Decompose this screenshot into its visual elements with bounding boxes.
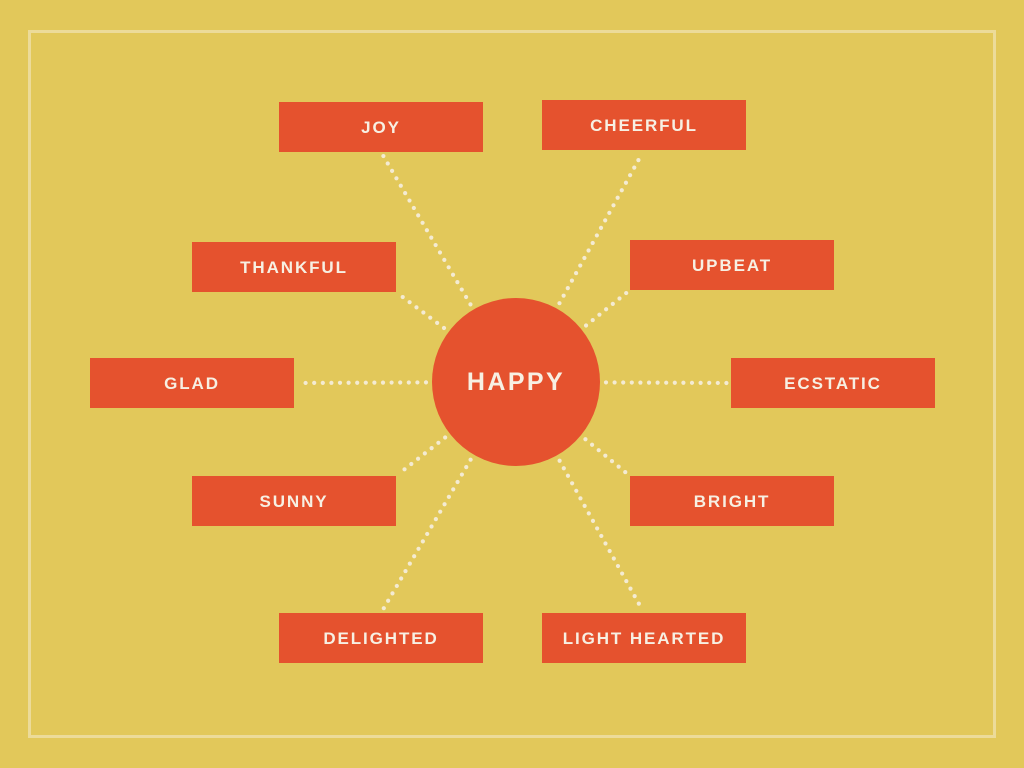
- node-box-thankful[interactable]: THANKFUL: [192, 242, 396, 292]
- node-box-glad[interactable]: GLAD: [90, 358, 294, 408]
- node-label-light-hearted: LIGHT HEARTED: [563, 630, 726, 647]
- node-label-glad: GLAD: [164, 375, 220, 392]
- node-box-light-hearted[interactable]: LIGHT HEARTED: [542, 613, 746, 663]
- node-label-thankful: THANKFUL: [240, 259, 348, 276]
- node-box-ecstatic[interactable]: ECSTATIC: [731, 358, 935, 408]
- node-label-cheerful: CHEERFUL: [590, 117, 698, 134]
- node-label-upbeat: UPBEAT: [692, 257, 772, 274]
- connector-line-thankful: [401, 295, 446, 330]
- node-box-bright[interactable]: BRIGHT: [630, 476, 834, 526]
- node-label-ecstatic: ECSTATIC: [784, 375, 882, 392]
- node-box-upbeat[interactable]: UPBEAT: [630, 240, 834, 290]
- node-box-sunny[interactable]: SUNNY: [192, 476, 396, 526]
- node-label-bright: BRIGHT: [694, 493, 771, 510]
- node-label-sunny: SUNNY: [259, 493, 328, 510]
- node-box-cheerful[interactable]: CHEERFUL: [542, 100, 746, 150]
- node-label-delighted: DELIGHTED: [323, 630, 438, 647]
- connector-line-upbeat: [584, 291, 628, 328]
- connector-line-glad: [304, 380, 429, 385]
- connector-line-light-hearted: [558, 459, 641, 606]
- connector-line-cheerful: [557, 158, 640, 305]
- node-box-delighted[interactable]: DELIGHTED: [279, 613, 483, 663]
- center-node-label: HAPPY: [467, 370, 565, 395]
- connector-line-bright: [583, 437, 627, 474]
- connector-line-ecstatic: [604, 380, 729, 385]
- center-node-happy[interactable]: HAPPY: [432, 298, 600, 466]
- connector-line-sunny: [402, 435, 447, 471]
- node-box-joy[interactable]: JOY: [279, 102, 483, 152]
- node-label-joy: JOY: [361, 119, 401, 136]
- word-web-canvas: HAPPYJOYCHEERFULTHANKFULUPBEATGLADECSTAT…: [0, 0, 1024, 768]
